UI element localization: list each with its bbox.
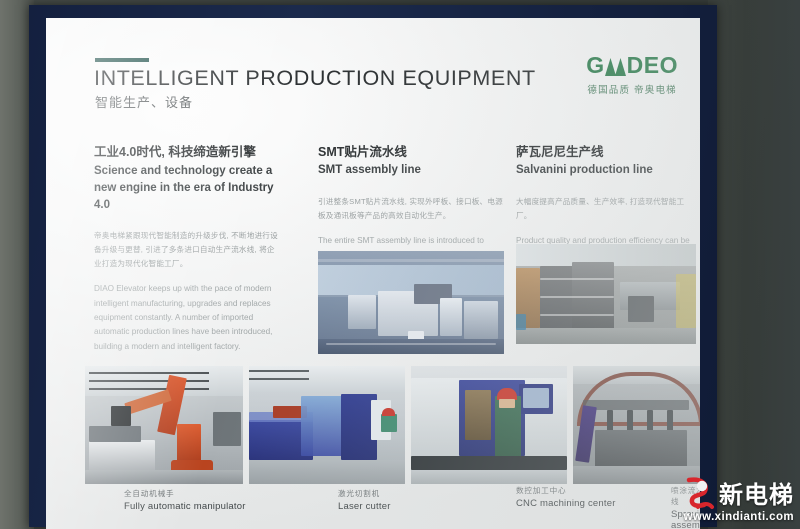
column-1-body-en: DIAO Elevator keeps up with the pace of … <box>94 282 280 354</box>
photograph-of-factory-wall-poster: INTELLIGENT PRODUCTION EQUIPMENT 智能生产、设备… <box>0 0 800 529</box>
watermark: 新电梯 www.xindianti.com <box>681 475 794 523</box>
column-3-heading-cn: 萨瓦尼尼生产线 <box>516 144 696 160</box>
caption-laser-cutter: 激光切割机 Laser cutter <box>338 488 391 512</box>
poster-frame: INTELLIGENT PRODUCTION EQUIPMENT 智能生产、设备… <box>29 5 717 527</box>
watermark-row: 新电梯 <box>681 475 794 510</box>
logo-text-deo: DEO <box>627 54 678 77</box>
brand-logo: G DEO 德国品质 帝奥电梯 <box>586 54 678 96</box>
column-1-heading-en-line2: new engine in the era of Industry 4.0 <box>94 180 280 213</box>
caption-3-en: CNC machining center <box>516 498 616 509</box>
title-accent-bar <box>95 58 149 62</box>
caption-3-cn: 数控加工中心 <box>516 485 616 496</box>
caption-2-cn: 激光切割机 <box>338 488 391 499</box>
caption-cnc: 数控加工中心 CNC machining center <box>516 485 616 509</box>
laser-cutter-photo <box>249 366 405 484</box>
column-3-heading-en-line1: Salvanini production line <box>516 163 696 179</box>
page-subtitle: 智能生产、设备 <box>95 92 193 111</box>
robotic-manipulator-photo <box>85 366 243 484</box>
logo-text-g: G <box>586 54 604 77</box>
logo-mountain-m-icon <box>605 57 627 75</box>
column-1-body-cn: 帝奥电梯紧跟现代智能制造的升级步伐, 不断地进行设备升级与更替, 引进了多条进口… <box>94 229 280 271</box>
column-2-heading-en-line1: SMT assembly line <box>318 163 504 179</box>
bottom-photo-strip <box>46 366 700 484</box>
page-title: INTELLIGENT PRODUCTION EQUIPMENT <box>94 66 536 91</box>
smt-assembly-line-photo <box>318 251 504 354</box>
column-1-heading-en-line1: Science and technology create a <box>94 163 280 180</box>
caption-1-en: Fully automatic manipulator <box>124 501 246 512</box>
logo-wordmark: G DEO <box>586 54 678 77</box>
logo-tagline: 德国品质 帝奥电梯 <box>586 82 678 96</box>
column-1-heading-cn: 工业4.0时代, 科技缔造新引擎 <box>94 144 280 160</box>
caption-1-cn: 全自动机械手 <box>124 488 246 499</box>
salvanini-production-line-photo <box>516 244 696 344</box>
column-industry-40: 工业4.0时代, 科技缔造新引擎 Science and technology … <box>94 144 280 354</box>
watermark-url: www.xindianti.com <box>681 511 794 523</box>
cnc-machining-center-photo <box>411 366 567 484</box>
watermark-logo-icon <box>681 476 715 510</box>
watermark-brand: 新电梯 <box>719 475 794 510</box>
poster-panel: INTELLIGENT PRODUCTION EQUIPMENT 智能生产、设备… <box>46 18 700 529</box>
caption-manipulator: 全自动机械手 Fully automatic manipulator <box>124 488 246 512</box>
wall-right-surface <box>708 0 800 529</box>
column-3-body-cn: 大幅度提高产品质量、生产效率, 打造现代智能工厂。 <box>516 195 696 223</box>
spraying-assembly-line-photo <box>573 366 700 484</box>
column-2-heading-cn: SMT贴片流水线 <box>318 144 504 160</box>
caption-2-en: Laser cutter <box>338 501 391 512</box>
column-2-body-cn: 引进整条SMT贴片流水线, 实现外呼板、接口板、电源板及通讯板等产品的高效自动化… <box>318 195 504 223</box>
